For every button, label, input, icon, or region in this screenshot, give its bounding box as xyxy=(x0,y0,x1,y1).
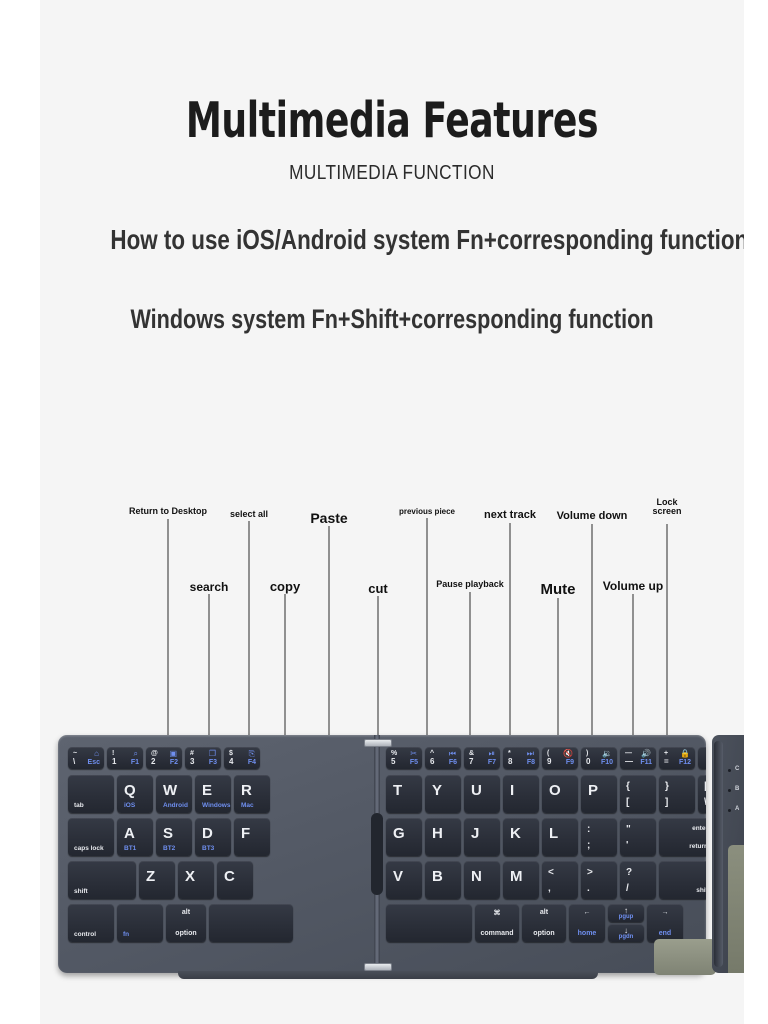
key-s[interactable]: SBT2 xyxy=(156,818,192,856)
key-legend-fkey: F5 xyxy=(410,759,418,766)
key-legend-primary: & xyxy=(469,750,474,757)
key-x[interactable]: X xyxy=(178,861,214,899)
key-shift-right[interactable]: shift xyxy=(659,861,706,899)
key-legend-primary: } xyxy=(665,781,669,792)
key-legend-fkey: F9 xyxy=(566,759,574,766)
key-legend-secondary: 7 xyxy=(469,757,473,766)
key-o[interactable]: O xyxy=(542,775,578,813)
function-row-left: ~⌂\Esc!⌕1F1@▣2F2#❐3F3$⎘4F4 xyxy=(68,747,263,769)
keyboard-folded-side-panel: C B A xyxy=(712,735,758,973)
shift-row-right: VBNM<,>.?/shift xyxy=(386,861,706,899)
foldable-keyboard-image: ~⌂\Esc!⌕1F1@▣2F2#❐3F3$⎘4F4 tabQiOSWAndro… xyxy=(58,735,758,980)
key-legend-primary: * xyxy=(508,750,511,757)
key-symbol-5[interactable]: :; xyxy=(581,818,617,856)
key-pgup[interactable]: ↑pgup xyxy=(608,904,644,922)
key-legend-secondary: pgdn xyxy=(608,934,644,940)
callout-leader-line xyxy=(329,526,330,754)
key-legend-secondary: home xyxy=(569,930,605,937)
callout-label: search xyxy=(190,581,229,594)
key-fn-icon: ▣ xyxy=(169,749,177,758)
bottom-row-left: controlfnaltoption xyxy=(68,904,296,942)
key-legend-primary: tab xyxy=(74,802,84,809)
status-led-b xyxy=(728,789,731,792)
callout-leader-line xyxy=(427,518,428,754)
instruction-line-windows: Windows system Fn+Shift+corresponding fu… xyxy=(110,304,673,335)
callout-label: Paste xyxy=(310,511,347,526)
status-led-c-label: C xyxy=(735,766,739,772)
key-pgup-pgdn-stack[interactable]: ↑pgup↓pgdn xyxy=(608,904,644,942)
callout-leader-line xyxy=(168,519,169,754)
key-legend-primary: G xyxy=(393,826,405,841)
key-q[interactable]: QiOS xyxy=(117,775,153,813)
panel-spine xyxy=(714,741,723,967)
key-legend-primary: J xyxy=(471,826,479,841)
key-fn-icon: ❐ xyxy=(209,749,216,758)
key-f7[interactable]: &⏯7F7 xyxy=(464,747,500,769)
key-f4[interactable]: $⎘4F4 xyxy=(224,747,260,769)
key-j[interactable]: J xyxy=(464,818,500,856)
key-fn-icon: 🔉 xyxy=(602,749,612,758)
key-legend-primary: Q xyxy=(124,783,136,798)
callout-label: next track xyxy=(484,510,536,522)
callout-leader-line xyxy=(558,598,559,754)
status-led-a xyxy=(728,809,731,812)
key-n[interactable]: N xyxy=(464,861,500,899)
callout-leader-line xyxy=(378,596,379,754)
key-legend-primary: | xyxy=(704,781,706,792)
key-legend-primary: { xyxy=(626,781,630,792)
key-legend-primary: @ xyxy=(151,750,158,757)
key-legend-fn: iOS xyxy=(124,803,135,810)
key-f6[interactable]: ^⏮6F6 xyxy=(425,747,461,769)
key-arrow-home[interactable]: ←home xyxy=(569,904,605,942)
page-subtitle: MULTIMEDIA FUNCTION xyxy=(89,162,694,185)
key-legend-secondary: = xyxy=(664,757,669,766)
callout-label: Volume up xyxy=(603,580,663,593)
key-fn-icon: ⏭ xyxy=(527,749,534,759)
key-spacebar[interactable] xyxy=(209,904,293,942)
key-legend-fn: Android xyxy=(163,803,188,810)
key-fn-icon: ✂ xyxy=(410,749,417,758)
key-legend-primary: M xyxy=(510,869,523,884)
key-legend-primary: caps lock xyxy=(74,845,104,852)
key-f9[interactable]: (🔇9F9 xyxy=(542,747,578,769)
key-legend-fn: BT2 xyxy=(163,846,175,853)
keyboard-base-edge xyxy=(178,971,598,979)
key-legend-primary: : xyxy=(587,824,590,835)
key-legend-primary: F xyxy=(241,826,250,841)
key-fn-icon: 🔊 xyxy=(641,749,651,758)
status-led-b-label: B xyxy=(735,786,739,792)
key-legend-primary: V xyxy=(393,869,403,884)
key-legend-primary: N xyxy=(471,869,482,884)
key-t[interactable]: T xyxy=(386,775,422,813)
key-symbol-7[interactable]: }] xyxy=(659,775,695,813)
callout-leader-line xyxy=(285,594,286,754)
key-f8[interactable]: *⏭8F8 xyxy=(503,747,539,769)
key-control[interactable]: control xyxy=(68,904,114,942)
key-legend-primary: shift xyxy=(74,888,88,895)
key-legend-fkey: F3 xyxy=(209,759,217,766)
key-b[interactable]: B xyxy=(425,861,461,899)
key-legend-primary: ^ xyxy=(430,750,434,757)
key-legend-primary: < xyxy=(548,867,554,878)
key-legend-primary: Z xyxy=(146,869,155,884)
shift-row-left: shiftZXC xyxy=(68,861,256,899)
callout-leader-line xyxy=(209,594,210,754)
key-legend-primary: A xyxy=(124,826,135,841)
key-legend-return: return xyxy=(689,843,706,850)
key-enter[interactable]: enterreturn xyxy=(659,818,706,856)
key-legend-secondary: command xyxy=(475,930,519,937)
callout-label: Mute xyxy=(541,582,576,598)
key-legend-primary: > xyxy=(587,867,593,878)
callout-label: Lockscreen xyxy=(652,498,681,517)
key-d[interactable]: DBT3 xyxy=(195,818,231,856)
key-fn-icon: ⏮ xyxy=(449,749,456,759)
key-fn-icon: ⏯ xyxy=(489,749,495,759)
key-symbol-4[interactable]: <, xyxy=(542,861,578,899)
key-v[interactable]: V xyxy=(386,861,422,899)
key-legend-secondary: 9 xyxy=(547,757,551,766)
key-legend-primary: ) xyxy=(586,750,588,757)
key-y[interactable]: Y xyxy=(425,775,461,813)
key-legend-primary: S xyxy=(163,826,173,841)
arrow-icon: → xyxy=(647,909,683,916)
key-legend-fn: Mac xyxy=(241,803,254,810)
key-symbol-5[interactable]: >. xyxy=(581,861,617,899)
key-legend-fkey: Esc xyxy=(88,759,100,766)
key-arrow-end[interactable]: →end xyxy=(647,904,683,942)
key-f12[interactable]: +🔒=F12 xyxy=(659,747,695,769)
key-m[interactable]: M xyxy=(503,861,539,899)
callout-label: Volume down xyxy=(557,511,628,523)
key-legend-secondary: 5 xyxy=(391,757,395,766)
callout-label: copy xyxy=(270,580,300,594)
key-legend-primary: T xyxy=(393,783,402,798)
key-legend-fkey: F11 xyxy=(640,759,652,766)
callout-label: cut xyxy=(368,582,388,596)
key-fn[interactable]: fn xyxy=(117,904,163,942)
key-legend-fkey: F8 xyxy=(527,759,535,766)
key-legend-secondary: \ xyxy=(73,757,75,766)
key-fn-icon: ⌕ xyxy=(134,749,138,759)
key-c[interactable]: C xyxy=(217,861,253,899)
key-legend-primary: E xyxy=(202,783,212,798)
key-legend-secondary: . xyxy=(587,883,590,894)
key-l[interactable]: L xyxy=(542,818,578,856)
key-legend-secondary: 4 xyxy=(229,757,233,766)
key-tab[interactable]: tab xyxy=(68,775,114,813)
home-row-left: caps lockABT1SBT2DBT3F xyxy=(68,818,273,856)
key-legend-secondary: 1 xyxy=(112,757,116,766)
key-pgdn[interactable]: ↓pgdn xyxy=(608,924,644,942)
key-legend-secondary: , xyxy=(548,883,551,894)
key-fn-icon: 🔒 xyxy=(680,749,690,758)
key-e[interactable]: EWindows xyxy=(195,775,231,813)
key-legend-primary: O xyxy=(549,783,561,798)
key-symbol-6[interactable]: {[ xyxy=(620,775,656,813)
key-f10[interactable]: )🔉0F10 xyxy=(581,747,617,769)
qwerty-row-right: TYUIOP{[}]|\ xyxy=(386,775,706,813)
key-legend-fkey: F4 xyxy=(248,759,256,766)
callout-leader-line xyxy=(592,524,593,754)
key-legend-primary: R xyxy=(241,783,252,798)
function-row-right: %✂5F5^⏮6F6&⏯7F7*⏭8F8(🔇9F9)🔉0F10—🔊—F11+🔒=… xyxy=(386,747,706,769)
key-legend-primary: ⌘ xyxy=(475,909,519,917)
key-legend-secondary: pgup xyxy=(608,914,644,920)
key-k[interactable]: K xyxy=(503,818,539,856)
instruction-line-ios: How to use iOS/Android system Fn+corresp… xyxy=(110,224,673,256)
key-legend-primary: ! xyxy=(112,750,114,757)
key-legend-fkey: F7 xyxy=(488,759,496,766)
key-legend-secondary: end xyxy=(647,930,683,937)
key-legend-primary: Y xyxy=(432,783,442,798)
key-f[interactable]: F xyxy=(234,818,270,856)
key-symbol-6[interactable]: "' xyxy=(620,818,656,856)
arrow-icon: ← xyxy=(569,909,605,916)
key-legend-primary: control xyxy=(74,931,96,938)
key-spacebar[interactable] xyxy=(386,904,472,942)
page-inner: Multimedia Features MULTIMEDIA FUNCTION … xyxy=(40,0,744,1024)
key-legend-fkey: F2 xyxy=(170,759,178,766)
product-detail-page: Multimedia Features MULTIMEDIA FUNCTION … xyxy=(0,0,768,1024)
key-p[interactable]: P xyxy=(581,775,617,813)
key-legend-primary: " xyxy=(626,824,631,835)
key-legend-primary: ~ xyxy=(73,750,77,757)
key-legend-primary: % xyxy=(391,750,397,757)
key-a[interactable]: ABT1 xyxy=(117,818,153,856)
key-legend-fn: BT1 xyxy=(124,846,136,853)
key-legend-primary: X xyxy=(185,869,195,884)
key-legend-primary: alt xyxy=(166,909,206,916)
key-legend-primary: ? xyxy=(626,867,632,878)
key-command[interactable]: ⌘command xyxy=(475,904,519,942)
key-legend-primary: I xyxy=(510,783,514,798)
key-legend-secondary: 0 xyxy=(586,757,590,766)
key-legend-fn: Windows xyxy=(202,803,230,810)
key-option[interactable]: altoption xyxy=(522,904,566,942)
key-g[interactable]: G xyxy=(386,818,422,856)
callout-leader-line xyxy=(510,523,511,754)
key-legend-secondary: ; xyxy=(587,840,590,851)
key-←[interactable]: Del← xyxy=(698,747,706,769)
key-f5[interactable]: %✂5F5 xyxy=(386,747,422,769)
bottom-row-right: ⌘commandaltoption←home↑pgup↓pgdn→end xyxy=(386,904,686,942)
key-legend-secondary: 8 xyxy=(508,757,512,766)
key-legend-enter: enter xyxy=(692,825,706,832)
key-legend-primary: D xyxy=(202,826,213,841)
callout-label: previous piece xyxy=(399,508,455,516)
key-u[interactable]: U xyxy=(464,775,500,813)
key-legend-primary: fn xyxy=(123,931,129,938)
key-f2[interactable]: @▣2F2 xyxy=(146,747,182,769)
key-legend-primary: $ xyxy=(229,750,233,757)
callout-label: select all xyxy=(230,510,268,519)
key-legend-primary: W xyxy=(163,783,177,798)
key-legend-primary: alt xyxy=(522,909,566,916)
keyboard-touch-plate xyxy=(654,939,716,975)
key-w[interactable]: WAndroid xyxy=(156,775,192,813)
key-legend-secondary: / xyxy=(626,883,629,894)
key-r[interactable]: RMac xyxy=(234,775,270,813)
key-legend-fkey: F12 xyxy=(679,759,691,766)
callout-label: Return to Desktop xyxy=(129,507,207,516)
qwerty-row-left: tabQiOSWAndroidEWindowsRMac xyxy=(68,775,273,813)
callout-leader-line xyxy=(633,594,634,754)
key-legend-primary: C xyxy=(224,869,235,884)
key-legend-primary: # xyxy=(190,750,194,757)
key-shift[interactable]: shift xyxy=(68,861,136,899)
key-legend-secondary: \ xyxy=(704,797,706,808)
key-f1[interactable]: !⌕1F1 xyxy=(107,747,143,769)
key-esc[interactable]: ~⌂\Esc xyxy=(68,747,104,769)
key-legend-secondary: [ xyxy=(626,797,629,808)
key-legend-secondary: 6 xyxy=(430,757,434,766)
key-legend-secondary: option xyxy=(166,930,206,937)
callout-leader-line xyxy=(470,592,471,754)
key-legend-primary: L xyxy=(549,826,558,841)
keyboard-right-half: %✂5F5^⏮6F6&⏯7F7*⏭8F8(🔇9F9)🔉0F10—🔊—F11+🔒=… xyxy=(380,735,706,973)
key-h[interactable]: H xyxy=(425,818,461,856)
key-symbol-6[interactable]: ?/ xyxy=(620,861,656,899)
key-legend-primary: ( xyxy=(547,750,549,757)
key-legend-fkey: F1 xyxy=(131,759,139,766)
key-legend-secondary: ' xyxy=(626,840,628,851)
key-f3[interactable]: #❐3F3 xyxy=(185,747,221,769)
panel-plate xyxy=(728,845,758,973)
key-legend-primary: P xyxy=(588,783,598,798)
key-fn-icon: ⎘ xyxy=(249,749,255,759)
key-legend-fkey: F10 xyxy=(601,759,613,766)
key-legend-primary: + xyxy=(664,750,668,757)
key-option[interactable]: altoption xyxy=(166,904,206,942)
callout-label: Pause playback xyxy=(436,580,504,589)
key-f11[interactable]: —🔊—F11 xyxy=(620,747,656,769)
key-fn-icon: ⌂ xyxy=(94,749,99,758)
key-legend-fkey: F6 xyxy=(449,759,457,766)
status-led-a-label: A xyxy=(735,806,739,812)
key-legend-primary: shift xyxy=(696,887,706,894)
status-led-c xyxy=(728,769,731,772)
key-legend-primary: H xyxy=(432,826,443,841)
key-legend-secondary: — xyxy=(625,757,633,766)
key-legend-primary: K xyxy=(510,826,521,841)
keyboard-left-half: ~⌂\Esc!⌕1F1@▣2F2#❐3F3$⎘4F4 tabQiOSWAndro… xyxy=(58,735,374,973)
callout-leader-line xyxy=(249,521,250,754)
key-symbol-8[interactable]: |\ xyxy=(698,775,706,813)
key-z[interactable]: Z xyxy=(139,861,175,899)
key-legend-secondary: ] xyxy=(665,797,668,808)
key-legend-primary: U xyxy=(471,783,482,798)
key-legend-primary: — xyxy=(625,750,632,757)
key-legend-secondary: option xyxy=(522,930,566,937)
home-row-right: GHJKL:;"'enterreturn xyxy=(386,818,706,856)
key-legend-primary: B xyxy=(432,869,443,884)
key-legend-secondary: 2 xyxy=(151,757,155,766)
key-legend-secondary: 3 xyxy=(190,757,194,766)
key-i[interactable]: I xyxy=(503,775,539,813)
key-fn-icon: 🔇 xyxy=(563,749,573,758)
page-title: Multimedia Features xyxy=(103,92,680,149)
key-caps-lock[interactable]: caps lock xyxy=(68,818,114,856)
key-legend-fn: BT3 xyxy=(202,846,214,853)
keyboard-body: ~⌂\Esc!⌕1F1@▣2F2#❐3F3$⎘4F4 tabQiOSWAndro… xyxy=(58,735,706,973)
callout-leader-line xyxy=(667,524,668,754)
